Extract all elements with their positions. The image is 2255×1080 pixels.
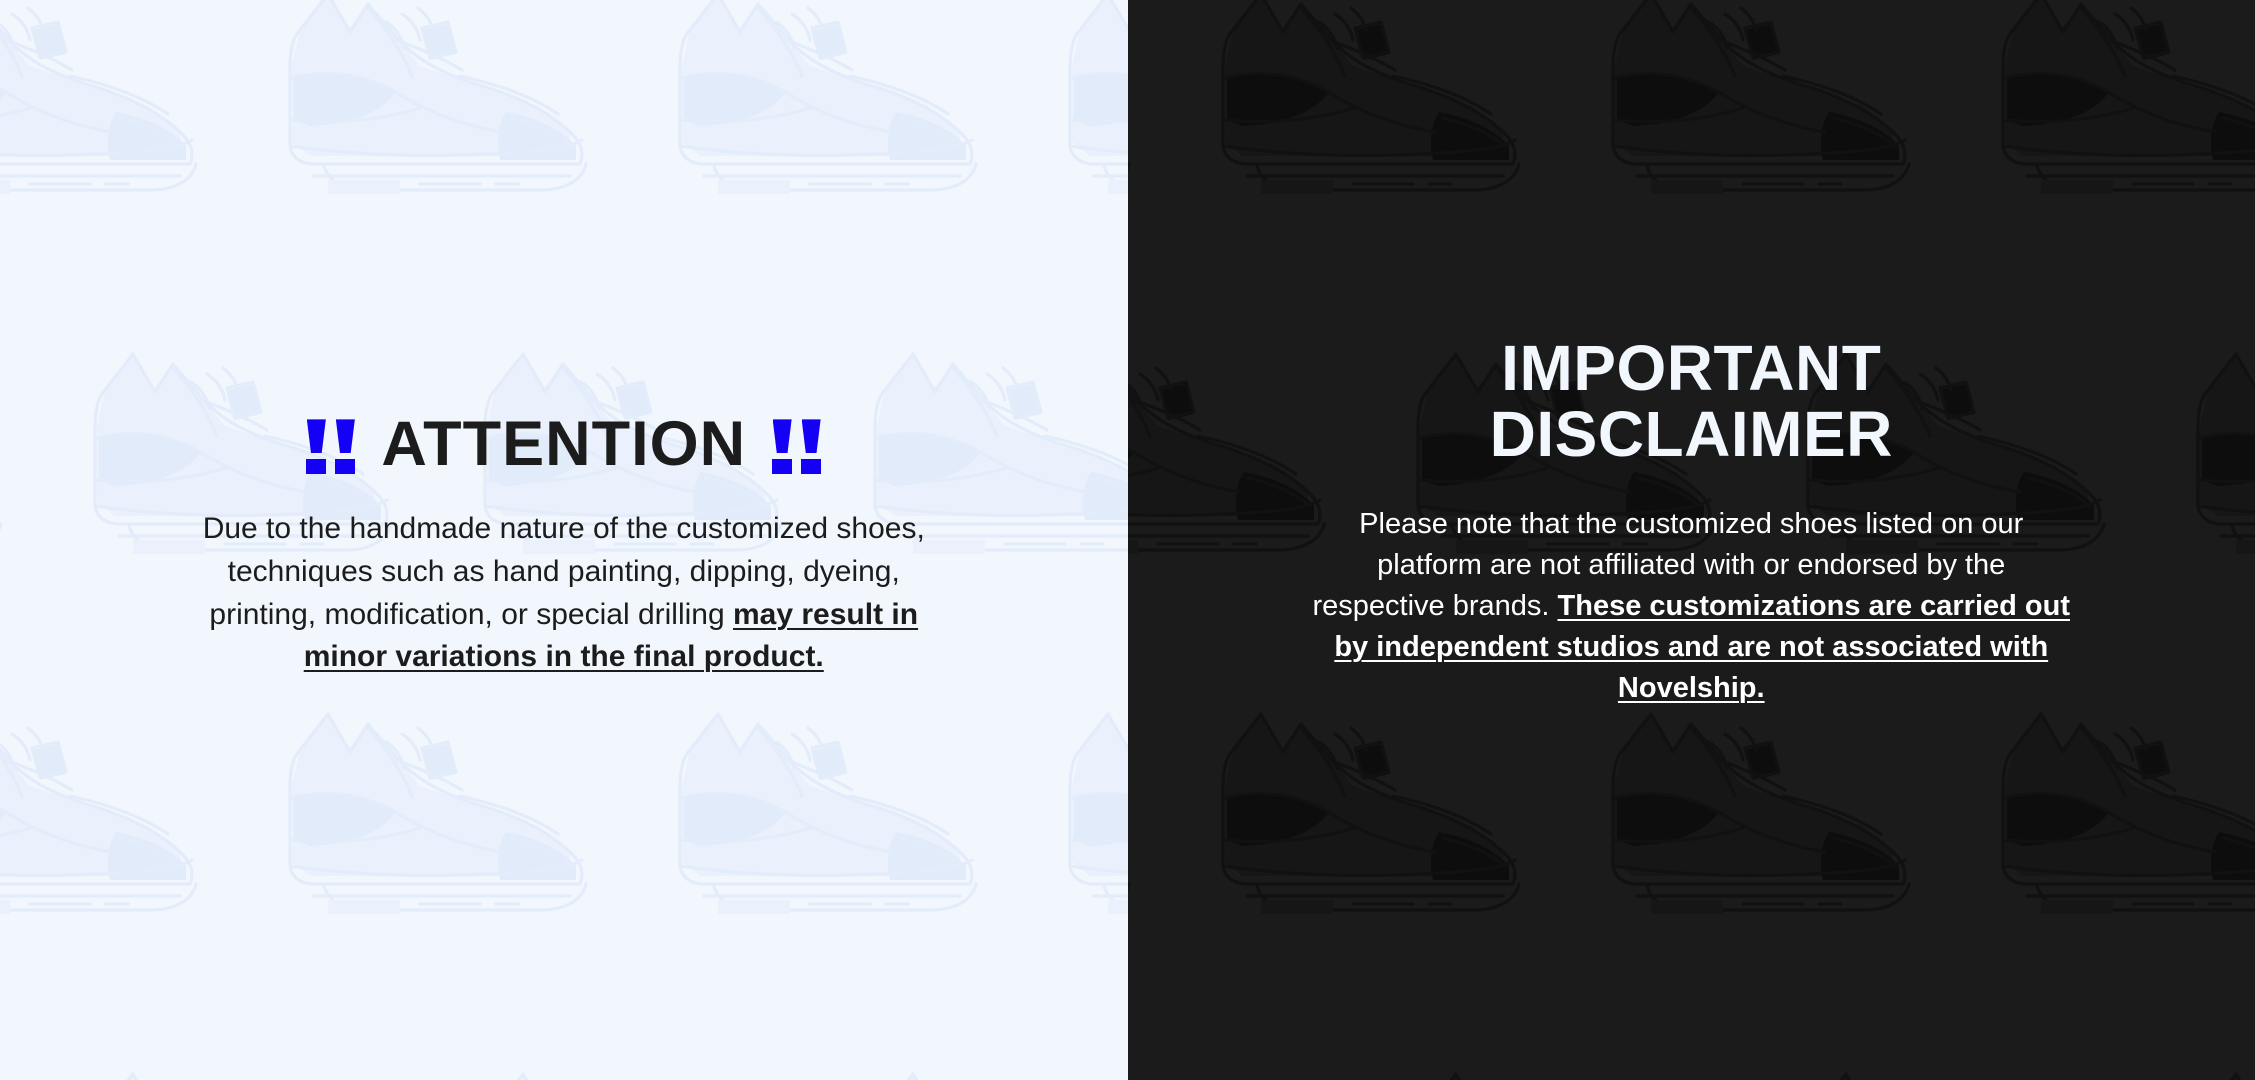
disclaimer-heading: IMPORTANT DISCLAIMER [1311,335,2071,468]
double-exclamation-icon-left [306,419,355,474]
sneaker-motif-icon [1128,600,1203,960]
sneaker-motif-icon [270,0,660,240]
attention-panel: ATTENTION Due to the handmade nature of … [0,0,1128,1080]
double-exclamation-icon-right [772,419,821,474]
sneaker-motif-icon [660,0,1050,240]
sneaker-motif-icon [1128,960,1398,1080]
attention-body: Due to the handmade nature of the custom… [174,508,954,678]
disclaimer-heading-line-1: IMPORTANT [1311,335,2071,402]
sneaker-motif-icon [1050,0,1128,240]
sneaker-motif-icon [0,960,75,1080]
sneaker-motif-icon [1593,0,1983,240]
sneaker-motif-icon [1203,0,1593,240]
sneaker-motif-icon [465,960,855,1080]
disclaimer-content: IMPORTANT DISCLAIMER Please note that th… [1271,335,2111,710]
sneaker-motif-icon [75,960,465,1080]
sneaker-motif-icon [1983,0,2255,240]
sneaker-motif-icon [1050,600,1128,960]
sneaker-motif-icon [1788,960,2178,1080]
disclaimer-banner: ATTENTION Due to the handmade nature of … [0,0,2255,1080]
attention-content: ATTENTION Due to the handmade nature of … [134,413,994,678]
attention-heading: ATTENTION [174,413,954,476]
attention-heading-text: ATTENTION [381,413,746,476]
disclaimer-body: Please note that the customized shoes li… [1311,504,2071,710]
disclaimer-panel: IMPORTANT DISCLAIMER Please note that th… [1128,0,2255,1080]
sneaker-motif-icon [0,0,270,240]
sneaker-motif-icon [2178,240,2255,600]
sneaker-motif-icon [1398,960,1788,1080]
sneaker-motif-icon [1128,0,1203,240]
sneaker-motif-icon [0,240,75,600]
disclaimer-heading-line-2: DISCLAIMER [1311,401,2071,468]
sneaker-motif-icon [2178,960,2255,1080]
sneaker-motif-icon [855,960,1128,1080]
